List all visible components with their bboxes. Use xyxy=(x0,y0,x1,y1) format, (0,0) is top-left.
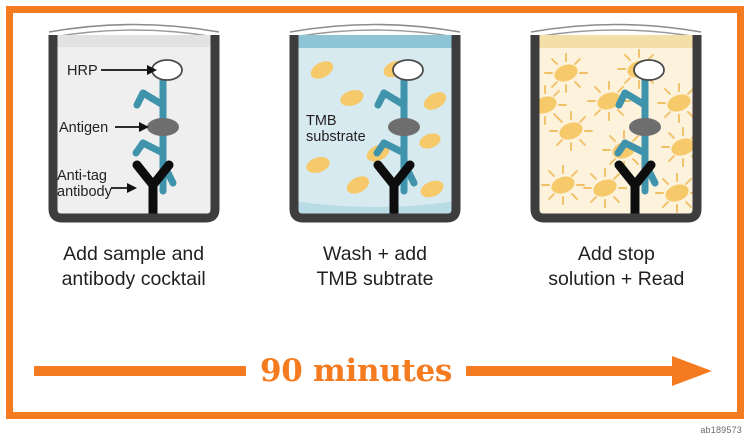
timeline: 90 minutes xyxy=(24,345,726,397)
label-anti-tag-antibody-line1: Anti-tag xyxy=(57,168,107,184)
well-rim-outer-line xyxy=(531,25,701,33)
well-step-1: HRP Antigen Anti-tag antibody xyxy=(39,13,229,226)
watermark: ab189573 xyxy=(700,425,742,435)
step-3-caption: Add stop solution + Read xyxy=(548,242,684,292)
well-step-2: TMB substrate xyxy=(280,13,470,226)
steps-row: HRP Antigen Anti-tag antibody xyxy=(13,13,737,333)
hrp-oval xyxy=(634,60,664,80)
well-rim-outer-line xyxy=(49,25,219,33)
label-antigen: Antigen xyxy=(59,120,108,136)
timeline-label: 90 minutes xyxy=(246,353,466,389)
timeline-bar-left xyxy=(34,366,246,376)
well-top-shade xyxy=(53,35,215,47)
hrp-oval xyxy=(393,60,423,80)
antigen-ellipse xyxy=(629,118,661,136)
label-tmb-line2: substrate xyxy=(306,129,366,145)
step-1: HRP Antigen Anti-tag antibody xyxy=(20,13,248,292)
well-illustration-stop-solution xyxy=(521,13,711,226)
label-anti-tag-antibody-line2: antibody xyxy=(57,184,113,200)
timeline-arrow xyxy=(466,354,716,388)
well-step-3 xyxy=(521,13,711,226)
arrow-right-icon xyxy=(466,354,716,388)
well-illustration-empty: HRP Antigen Anti-tag antibody xyxy=(39,13,229,226)
antigen-ellipse xyxy=(147,118,179,136)
figure-canvas: HRP Antigen Anti-tag antibody xyxy=(0,0,750,437)
label-hrp: HRP xyxy=(67,63,98,79)
step-2-caption: Wash + add TMB subtrate xyxy=(316,242,433,292)
label-tmb-line1: TMB xyxy=(306,113,337,129)
liquid-surface-band xyxy=(294,35,456,48)
antigen-ellipse xyxy=(388,118,420,136)
step-1-caption: Add sample and antibody cocktail xyxy=(62,242,206,292)
step-3: Add stop solution + Read xyxy=(502,13,730,292)
step-2: TMB substrate Wash + add TMB subtrate xyxy=(261,13,489,292)
well-illustration-tmb: TMB substrate xyxy=(280,13,470,226)
liquid-surface-band xyxy=(535,35,697,48)
well-rim-outer-line xyxy=(290,25,460,33)
